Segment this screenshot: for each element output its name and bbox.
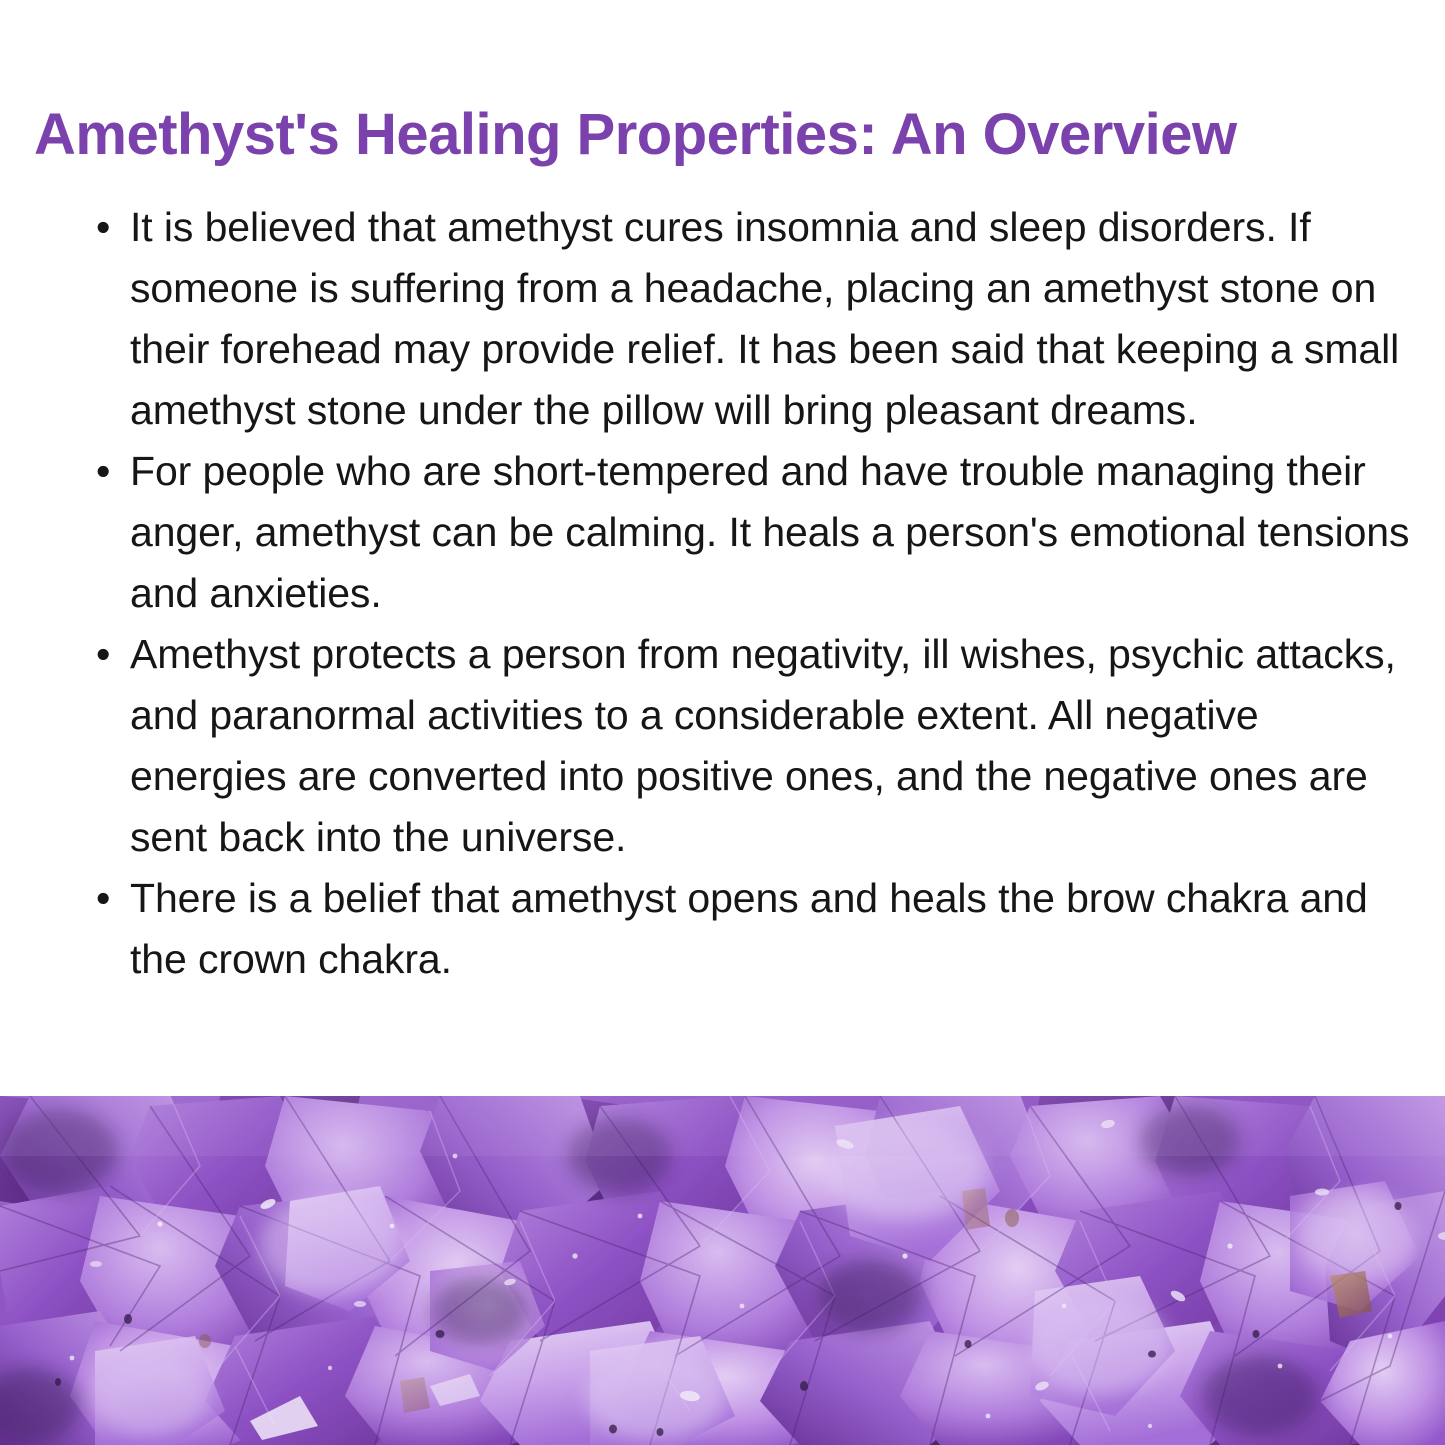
list-item-text: There is a belief that amethyst opens an… — [130, 875, 1368, 982]
amethyst-crystal-illustration — [0, 1096, 1445, 1445]
bullet-point-icon: • — [96, 197, 110, 258]
list-item-text: Amethyst protects a person from negativi… — [130, 631, 1396, 860]
list-item: •It is believed that amethyst cures inso… — [96, 197, 1411, 441]
healing-properties-list: •It is believed that amethyst cures inso… — [34, 197, 1411, 990]
list-item: •Amethyst protects a person from negativ… — [96, 624, 1411, 868]
bullet-point-icon: • — [96, 441, 110, 502]
amethyst-crystal-photo — [0, 1096, 1445, 1445]
bullet-point-icon: • — [96, 624, 110, 685]
bullet-point-icon: • — [96, 868, 110, 929]
poster-page: Amethyst's Healing Properties: An Overvi… — [0, 0, 1445, 1445]
list-item: •For people who are short-tempered and h… — [96, 441, 1411, 624]
list-item-text: For people who are short-tempered and ha… — [130, 448, 1409, 616]
content-panel: Amethyst's Healing Properties: An Overvi… — [0, 0, 1445, 1096]
page-title: Amethyst's Healing Properties: An Overvi… — [34, 0, 1411, 167]
list-item-text: It is believed that amethyst cures insom… — [130, 204, 1399, 433]
list-item: •There is a belief that amethyst opens a… — [96, 868, 1411, 990]
